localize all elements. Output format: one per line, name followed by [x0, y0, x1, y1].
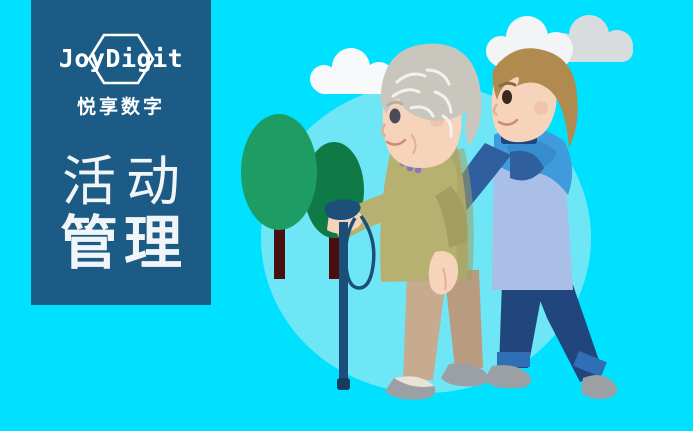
poster-canvas: JoyDigit 悦享数字 活动 管理	[0, 0, 693, 431]
logo-subtitle: 悦享数字	[77, 97, 165, 119]
illustration-area	[211, 0, 693, 431]
page-title-line-1: 活动	[52, 153, 190, 211]
logo-wordmark: JoyDigit	[46, 45, 196, 73]
page-title: 活动 管理	[52, 153, 190, 275]
logo-block: JoyDigit	[46, 33, 196, 85]
brand-panel: JoyDigit 悦享数字 活动 管理	[31, 0, 211, 305]
page-title-line-2: 管理	[54, 213, 188, 275]
